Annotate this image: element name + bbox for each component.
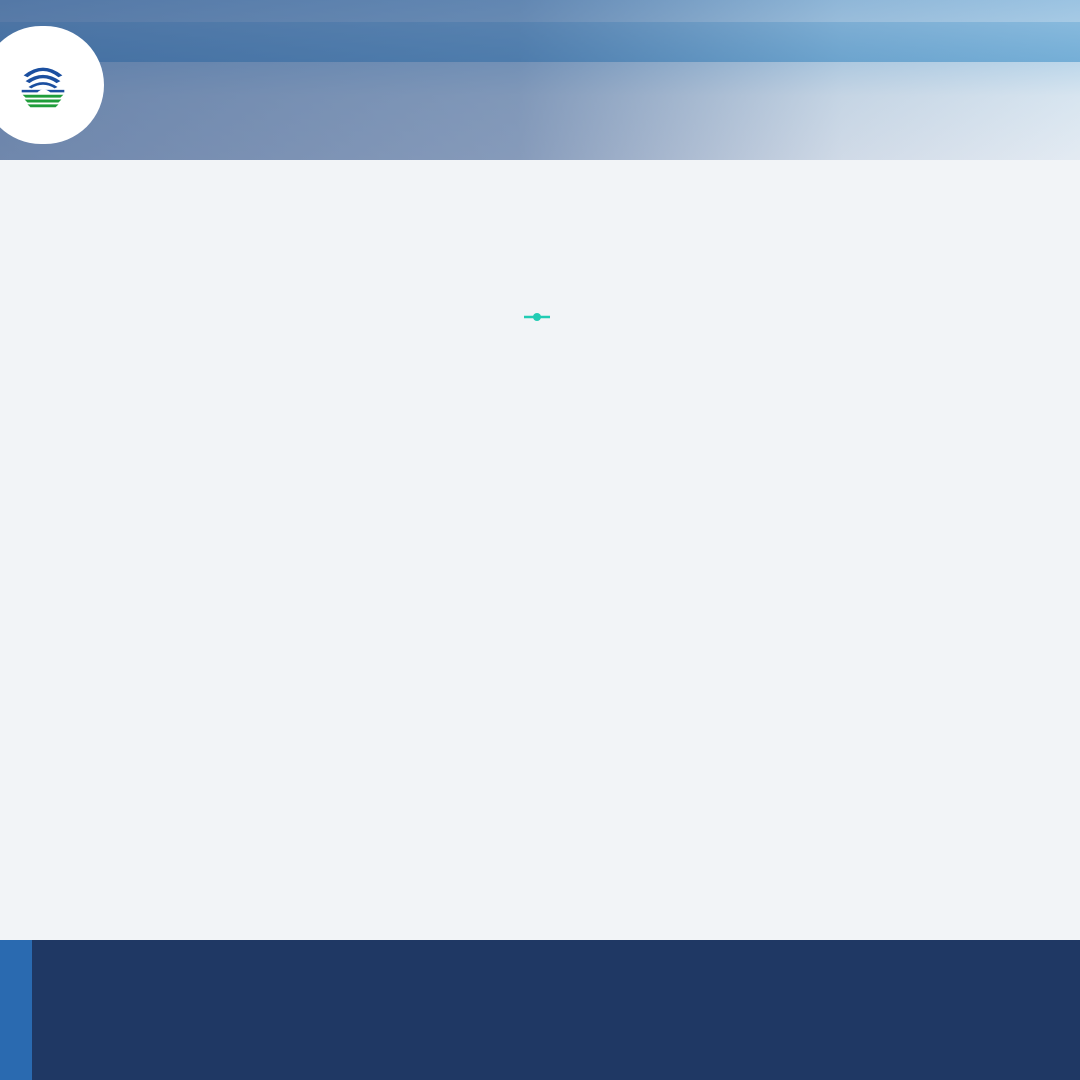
title-section xyxy=(0,160,1080,183)
legend-body xyxy=(32,940,1080,1080)
sst-chart xyxy=(18,201,1062,309)
legend-side-tab xyxy=(0,940,32,1080)
daily-forecast-row xyxy=(0,323,1080,331)
sst-chart-svg xyxy=(18,201,1062,309)
legend-section xyxy=(0,940,1080,1080)
bmkg-logo-mark xyxy=(12,54,74,116)
legend-note xyxy=(40,944,1074,951)
page-header xyxy=(0,0,1080,160)
header-tint-overlay xyxy=(0,0,1080,160)
chart-legend xyxy=(0,311,1080,323)
chart-legend-marker xyxy=(524,311,550,323)
